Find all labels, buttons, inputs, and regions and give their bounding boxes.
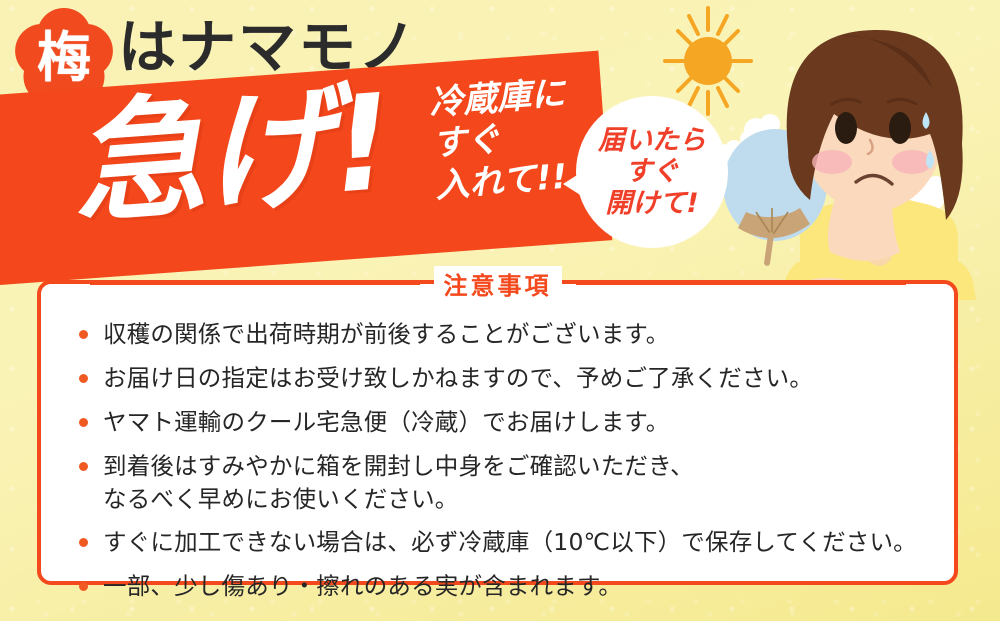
- list-item: お届け日の指定はお受け致しかねますので、予めご了承ください。: [67, 362, 940, 395]
- notes-panel: 注意事項 収穫の関係で出荷時期が前後することがございます。 お届け日の指定はお受…: [37, 280, 958, 585]
- bubble-line1: 届いたら: [598, 125, 706, 156]
- speech-bubble-tail: [563, 170, 585, 198]
- notes-rule-left: [90, 282, 420, 285]
- cheek-right: [892, 150, 932, 174]
- cheek-left: [812, 150, 852, 174]
- list-item: すぐに加工できない場合は、必ず冷蔵庫（10℃以下）で保存してください。: [67, 526, 940, 559]
- notes-list: 収穫の関係で出荷時期が前後することがございます。 お届け日の指定はお受け致しかね…: [67, 318, 940, 614]
- list-item: 一部、少し傷あり・擦れのある実が含まれます。: [67, 570, 940, 603]
- eye-right: [889, 112, 911, 144]
- list-item: 到着後はすみやかに箱を開封し中身をご確認いただき、 なるべく早めにお使いください…: [67, 450, 940, 516]
- sun-disc: [684, 37, 732, 85]
- list-item: 収穫の関係で出荷時期が前後することがございます。: [67, 318, 940, 351]
- list-item: ヤマト運輸のクール宅急便（冷蔵）でお届けします。: [67, 406, 940, 439]
- notes-rule-right: [576, 282, 906, 285]
- notes-title: 注意事項: [434, 266, 562, 301]
- bubble-line3: 開けて!: [605, 188, 698, 219]
- eye-left: [835, 112, 857, 144]
- speech-bubble: 届いたら すぐ 開けて!: [576, 96, 728, 248]
- poster-canvas: 梅 はナマモノ 急げ! 冷蔵庫に すぐ 入れて!! 届いたら すぐ 開けて! 注…: [0, 0, 1000, 621]
- bubble-line2: すぐ: [625, 156, 679, 187]
- notes-header: 注意事項: [41, 266, 954, 301]
